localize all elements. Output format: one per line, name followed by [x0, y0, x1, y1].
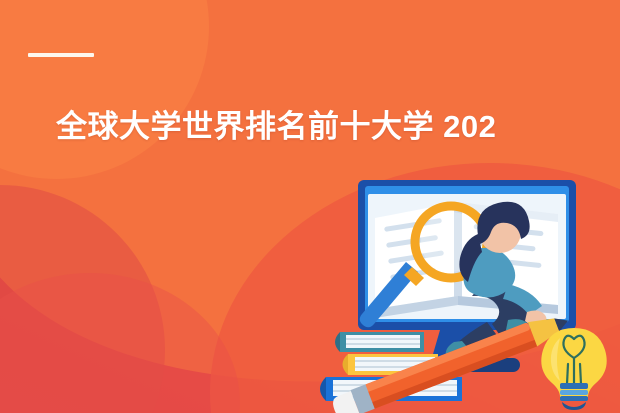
lightbulb-icon: [541, 328, 606, 410]
title-divider-rule: [28, 53, 94, 57]
page-title: 全球大学世界排名前十大学 202: [56, 105, 616, 149]
banner-image: 全球大学世界排名前十大学 202: [0, 0, 620, 413]
online-research-illustration: [312, 172, 612, 413]
